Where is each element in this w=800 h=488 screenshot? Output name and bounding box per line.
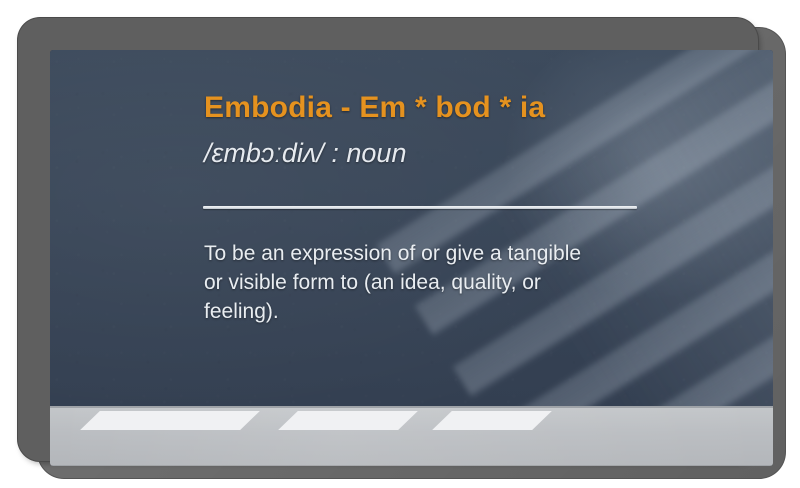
horizontal-rule-divider (203, 206, 637, 209)
definition-text: To be an expression of or give a tangibl… (204, 240, 604, 327)
slide-stage: Embodia - Em * bod * ia /ɛmbɔːdiʌ/ : nou… (0, 0, 800, 488)
phonetic-subtitle: /ɛmbɔːdiʌ/ : noun (204, 138, 406, 169)
screen-surface: Embodia - Em * bod * ia /ɛmbɔːdiʌ/ : nou… (50, 50, 773, 466)
screen-bezel: Embodia - Em * bod * ia /ɛmbɔːdiʌ/ : nou… (18, 18, 758, 461)
slide-content: Embodia - Em * bod * ia /ɛmbɔːdiʌ/ : nou… (50, 50, 773, 466)
page-title: Embodia - Em * bod * ia (204, 91, 545, 125)
